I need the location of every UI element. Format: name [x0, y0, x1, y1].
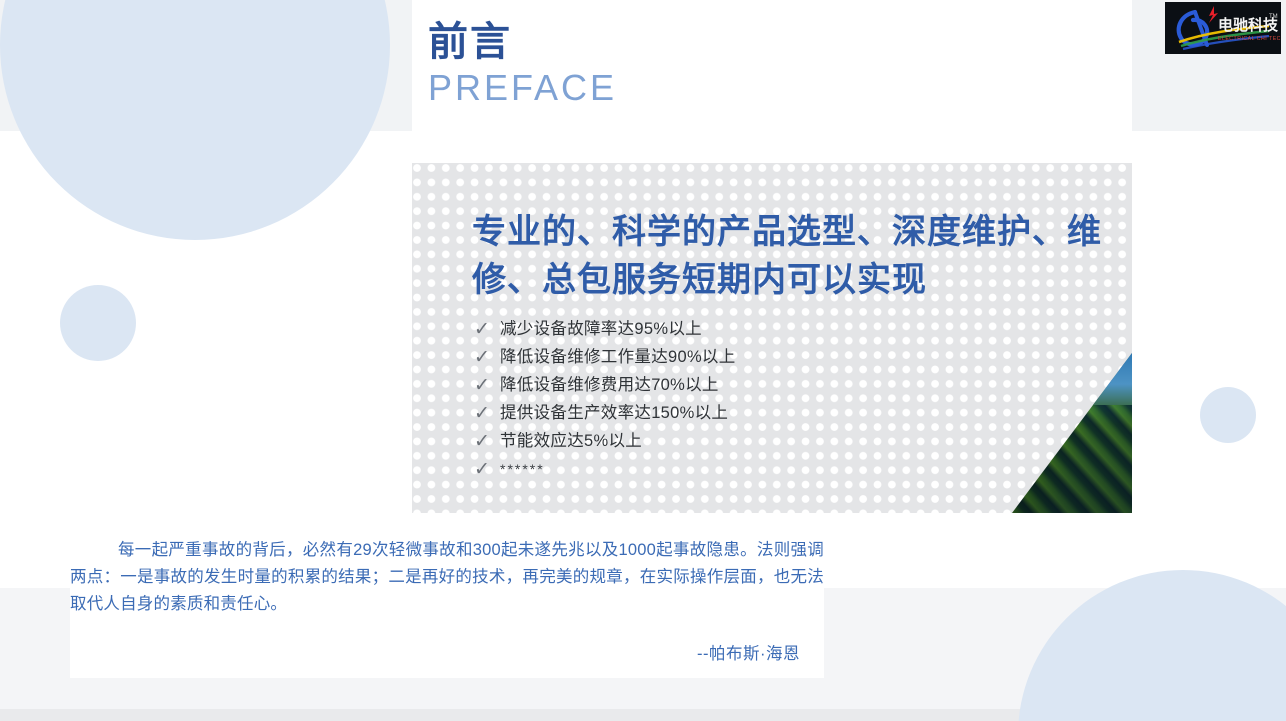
check-icon: ✓ — [474, 376, 500, 395]
list-item: ✓ 降低设备维修费用达70%以上 — [474, 371, 1034, 399]
check-icon: ✓ — [474, 460, 500, 479]
decorative-circle-small-left — [60, 285, 136, 361]
list-item-label: 减少设备故障率达95%以上 — [500, 321, 702, 338]
list-item: ✓ 减少设备故障率达95%以上 — [474, 315, 1034, 343]
content-panel: 专业的、科学的产品选型、深度维护、维修、总包服务短期内可以实现 ✓ 减少设备故障… — [412, 163, 1132, 513]
decorative-circle-small-right — [1200, 387, 1256, 443]
list-item-label: ****** — [500, 462, 545, 476]
content-heading: 专业的、科学的产品选型、深度维护、维修、总包服务短期内可以实现 — [472, 208, 1132, 305]
list-item: ✓ 提供设备生产效率达150%以上 — [474, 399, 1034, 427]
quote-panel: 每一起严重事故的背后，必然有29次轻微事故和300起未遂先兆以及1000起事故隐… — [70, 519, 824, 678]
page-title-en: PREFACE — [428, 70, 617, 106]
list-item: ✓ ****** — [474, 455, 1034, 483]
decorative-circle-top-left — [0, 0, 390, 240]
list-item: ✓ 降低设备维修工作量达90%以上 — [474, 343, 1034, 371]
company-logo: 电驰科技 ELECTRICAL CHI TECHNOLOGY TM — [1165, 2, 1281, 54]
check-icon: ✓ — [474, 348, 500, 367]
check-icon: ✓ — [474, 320, 500, 339]
top-left-gray-band — [0, 0, 412, 131]
list-item-label: 降低设备维修费用达70%以上 — [500, 377, 719, 394]
page-title-cn: 前言 — [428, 22, 512, 62]
list-item-label: 降低设备维修工作量达90%以上 — [500, 349, 736, 366]
check-icon: ✓ — [474, 404, 500, 423]
quote-body-text: 每一起严重事故的背后，必然有29次轻微事故和300起未遂先兆以及1000起事故隐… — [70, 537, 824, 618]
slide-canvas: 前言 PREFACE 电驰科技 ELECTRICAL CHI TECHNOLOG… — [0, 0, 1286, 721]
logo-icon: 电驰科技 ELECTRICAL CHI TECHNOLOGY TM — [1165, 2, 1281, 54]
svg-text:ELECTRICAL CHI TECHNOLOGY: ELECTRICAL CHI TECHNOLOGY — [1218, 36, 1281, 42]
list-item-label: 节能效应达5%以上 — [500, 433, 642, 450]
header-panel: 前言 PREFACE — [412, 0, 1132, 131]
list-item-label: 提供设备生产效率达150%以上 — [500, 405, 728, 422]
bottom-edge-strip — [0, 709, 1286, 721]
svg-text:TM: TM — [1269, 14, 1278, 20]
decorative-circle-bottom-right — [1018, 570, 1286, 721]
quote-attribution: --帕布斯·海恩 — [697, 640, 800, 664]
list-item: ✓ 节能效应达5%以上 — [474, 427, 1034, 455]
benefits-list: ✓ 减少设备故障率达95%以上 ✓ 降低设备维修工作量达90%以上 ✓ 降低设备… — [474, 315, 1034, 483]
check-icon: ✓ — [474, 432, 500, 451]
